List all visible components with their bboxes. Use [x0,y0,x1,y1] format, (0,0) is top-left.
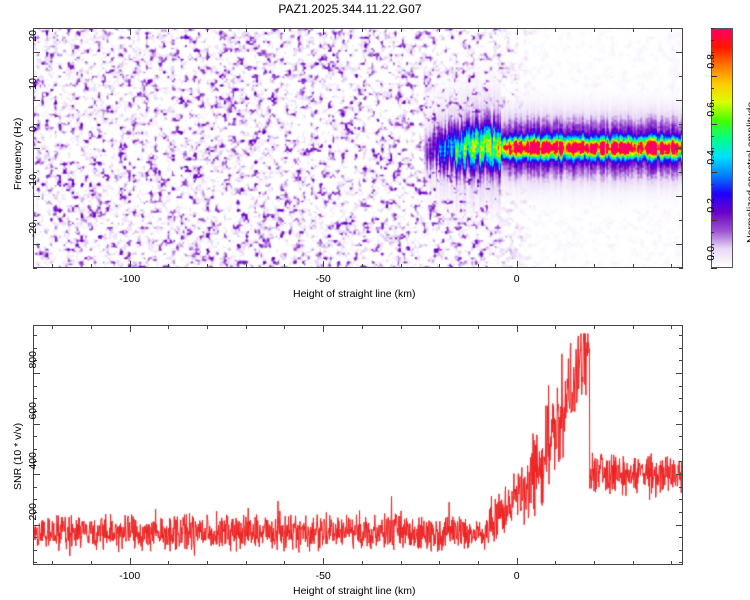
tick-x-top [52,325,53,329]
tick-x-bottom [52,561,53,565]
tick-x-bottom [246,264,247,268]
colorbar-tick-label: 0.8 [705,54,717,94]
tick-label-x: -50 [298,273,348,285]
tick-y-left [33,348,37,349]
tick-y-left [33,28,37,29]
tick-y-right [679,268,683,269]
tick-x-top [52,28,53,32]
tick-x-top [671,325,672,329]
tick-x-top [168,325,169,329]
tick-y-right [679,461,683,462]
tick-label-x: -100 [105,273,155,285]
tick-y-right [676,373,683,374]
tick-y-left [33,268,37,269]
tick-x-top [594,325,595,329]
tick-x-bottom [439,561,440,565]
colorbar-tick-label: 0.2 [705,198,717,238]
colorbar-tick [711,244,714,245]
tick-x-bottom [671,264,672,268]
tick-x-bottom [671,561,672,565]
spectrogram-axes [33,28,683,268]
tick-label-y: 800 [27,351,39,395]
tick-y-right [679,550,683,551]
tick-x-bottom [284,561,285,565]
tick-y-right [679,348,683,349]
tick-label-x: 0 [492,273,542,285]
tick-y-right [676,525,683,526]
tick-y-left [33,398,37,399]
colorbar-tick [711,28,714,29]
colorbar-label: Normalized spectral amplitude [745,102,750,243]
snr-line-plot [34,326,682,564]
tick-x-bottom [478,264,479,268]
tick-x-bottom [401,264,402,268]
tick-x-top [478,28,479,32]
figure-title: PAZ1.2025.344.11.22.G07 [0,2,700,16]
tick-y-left [33,550,37,551]
snr-axes [33,325,683,565]
tick-x-bottom [130,558,131,565]
tick-x-top [91,28,92,32]
spectrogram-xlabel: Height of straight line (km) [293,288,416,300]
tick-y-right [676,100,683,101]
tick-x-bottom [52,264,53,268]
tick-x-top [555,28,556,32]
tick-label-y: -10 [27,174,39,218]
tick-y-right [679,487,683,488]
tick-x-top [284,325,285,329]
tick-x-bottom [362,561,363,565]
tick-x-top [439,28,440,32]
tick-x-bottom [517,261,518,268]
tick-y-right [679,512,683,513]
tick-x-bottom [284,264,285,268]
tick-x-top [555,325,556,329]
colorbar-tick-label: 0.6 [705,102,717,142]
tick-x-bottom [207,561,208,565]
tick-y-right [679,172,683,173]
tick-x-top [130,28,131,35]
tick-x-top [633,28,634,32]
tick-label-y: 400 [27,452,39,496]
tick-y-right [679,398,683,399]
tick-y-right [679,360,683,361]
tick-y-left [33,449,37,450]
tick-y-left [33,76,37,77]
tick-x-top [401,325,402,329]
tick-x-bottom [91,561,92,565]
tick-label-y: 0 [27,126,39,170]
tick-y-right [676,474,683,475]
tick-label-x: -50 [298,570,348,582]
tick-x-bottom [168,264,169,268]
tick-label-x: 0 [492,570,542,582]
tick-x-bottom [323,261,324,268]
tick-y-right [679,28,683,29]
colorbar-tick [711,40,714,41]
tick-x-top [207,325,208,329]
tick-x-bottom [323,558,324,565]
tick-y-right [679,499,683,500]
tick-x-bottom [633,264,634,268]
tick-x-top [284,28,285,32]
tick-y-right [676,424,683,425]
tick-x-bottom [401,561,402,565]
colorbar-tick-label: 0.4 [705,150,717,190]
colorbar-tick [711,148,714,149]
tick-x-bottom [594,561,595,565]
tick-label-y: 600 [27,402,39,446]
tick-x-bottom [207,264,208,268]
tick-x-top [323,325,324,332]
spectrogram-ylabel: Frequency (Hz) [12,118,24,190]
tick-x-bottom [594,264,595,268]
tick-x-bottom [168,561,169,565]
tick-x-top [246,28,247,32]
tick-x-top [130,325,131,332]
tick-y-left [33,124,37,125]
tick-y-right [676,52,683,53]
tick-x-top [478,325,479,329]
tick-x-top [401,28,402,32]
tick-x-top [362,28,363,32]
tick-y-right [679,124,683,125]
tick-y-right [676,196,683,197]
tick-x-top [207,28,208,32]
tick-x-bottom [439,264,440,268]
tick-y-right [679,411,683,412]
colorbar-tick [711,196,714,197]
tick-y-left [33,172,37,173]
tick-x-top [246,325,247,329]
tick-y-right [679,562,683,563]
tick-y-right [676,244,683,245]
tick-y-right [679,537,683,538]
tick-y-right [679,335,683,336]
tick-x-bottom [555,264,556,268]
snr-xlabel: Height of straight line (km) [293,585,416,597]
tick-x-top [671,28,672,32]
tick-label-y: 10 [27,78,39,122]
tick-x-top [439,325,440,329]
tick-x-bottom [130,261,131,268]
tick-x-top [91,325,92,329]
tick-y-right [679,436,683,437]
tick-label-y: 200 [27,503,39,547]
tick-x-bottom [555,561,556,565]
tick-x-top [594,28,595,32]
tick-label-y: 20 [27,30,39,74]
tick-x-top [633,325,634,329]
tick-y-right [679,220,683,221]
tick-x-top [168,28,169,32]
tick-x-top [323,28,324,35]
tick-x-bottom [362,264,363,268]
tick-x-bottom [246,561,247,565]
colorbar-tick-label: 0.0 [705,246,717,286]
tick-y-right [679,386,683,387]
tick-x-top [517,325,518,332]
tick-x-bottom [517,558,518,565]
tick-y-right [676,148,683,149]
tick-y-left [33,335,37,336]
tick-x-bottom [633,561,634,565]
spectrogram-image [34,29,682,267]
tick-y-left [33,499,37,500]
tick-x-top [517,28,518,35]
colorbar-tick [711,100,714,101]
tick-x-bottom [91,264,92,268]
tick-y-right [679,449,683,450]
tick-y-left [33,562,37,563]
tick-y-left [33,220,37,221]
tick-x-bottom [478,561,479,565]
tick-label-x: -100 [105,570,155,582]
figure-root: PAZ1.2025.344.11.22.G07 -100-50020100-10… [0,0,750,600]
snr-ylabel: SNR (10 * v/v) [12,423,24,490]
tick-y-right [679,76,683,77]
tick-x-top [362,325,363,329]
colorbar-tick [711,52,714,53]
tick-label-y: -20 [27,222,39,266]
